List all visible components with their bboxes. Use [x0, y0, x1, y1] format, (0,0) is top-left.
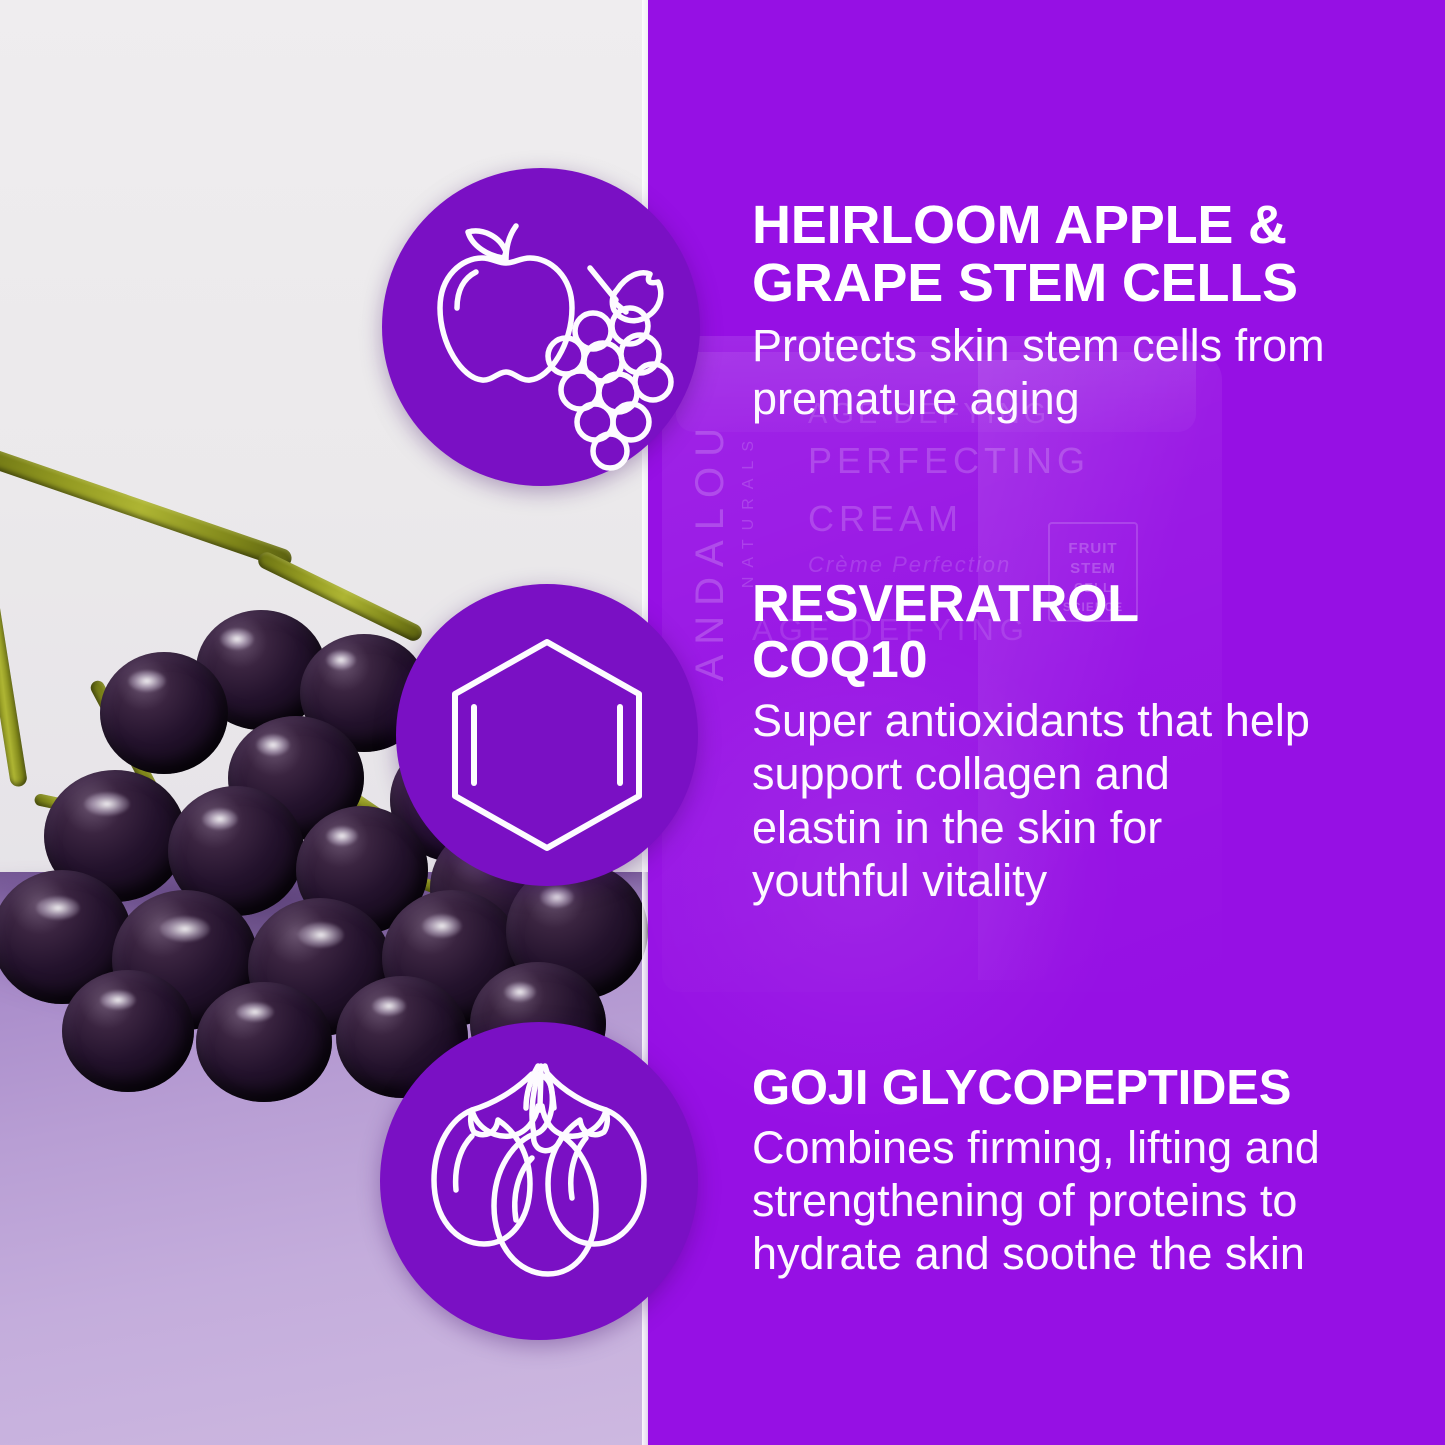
ghost-brand-subtitle: NATURALS	[740, 432, 758, 588]
feature-block-heirloom-apple-grape-stem-cells: HEIRLOOM APPLE & GRAPE STEM CELLS Protec…	[752, 196, 1382, 425]
hexagon-molecule-icon-badge	[396, 584, 698, 886]
goji-berries-icon-badge	[380, 1022, 698, 1340]
feature-title: HEIRLOOM APPLE & GRAPE STEM CELLS	[752, 196, 1382, 313]
ghost-line-perfecting: PERFECTING	[808, 440, 1090, 482]
infographic-canvas: ANDALOU NATURALS AGE DEFYING PERFECTING …	[0, 0, 1445, 1445]
feature-description: Super antioxidants that help support col…	[752, 694, 1312, 906]
apple-grape-icon	[382, 168, 700, 486]
feature-block-goji-glycopeptides: GOJI GLYCOPEPTIDES Combines firming, lif…	[752, 1062, 1412, 1280]
ghost-line-cream: CREAM	[808, 498, 963, 540]
ghost-badge-line-1: FRUIT	[1050, 540, 1136, 557]
feature-title: RESVERATROL COQ10	[752, 576, 1312, 688]
hexagon-molecule-icon	[396, 584, 698, 886]
feature-description: Protects skin stem cells from premature …	[752, 319, 1382, 425]
apple-grape-icon-badge	[382, 168, 700, 486]
feature-description: Combines firming, lifting and strengthen…	[752, 1121, 1412, 1280]
feature-block-resveratrol-coq10: RESVERATROL COQ10 Super antioxidants tha…	[752, 576, 1312, 907]
goji-berries-icon	[380, 1022, 698, 1340]
feature-title: GOJI GLYCOPEPTIDES	[752, 1062, 1412, 1115]
